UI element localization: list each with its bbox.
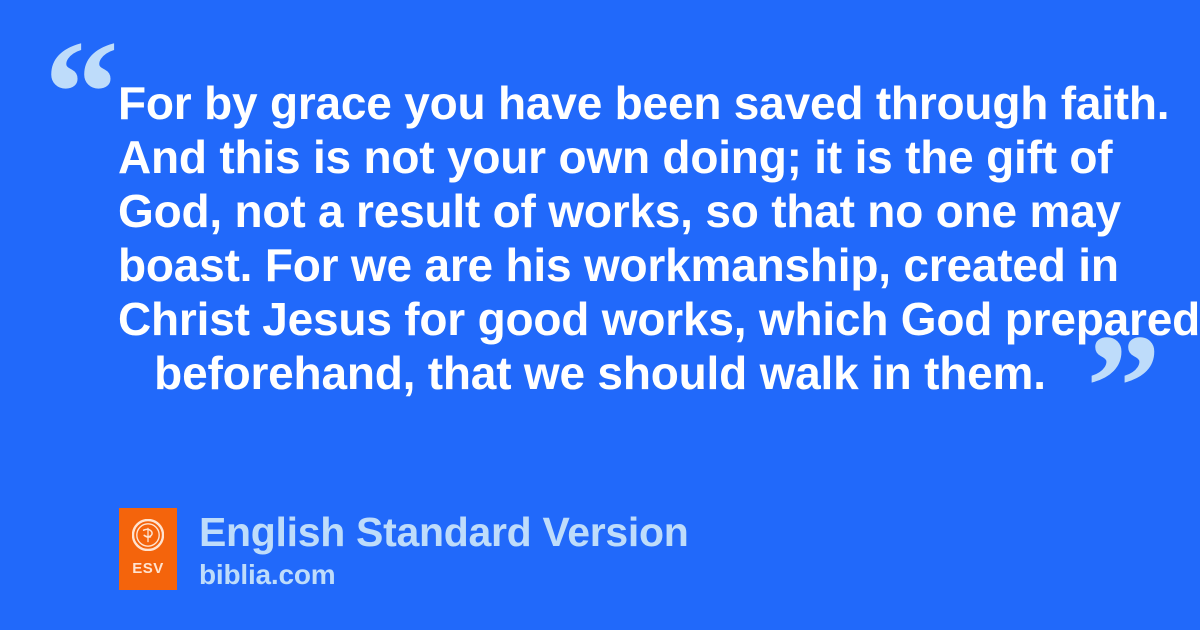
quote-card: “ For by grace you have been saved throu… [0, 0, 1200, 630]
esv-abbreviation: ESV [132, 561, 164, 576]
translation-name: English Standard Version [199, 509, 688, 555]
quote-line: boast. For we are his workmanship, creat… [118, 238, 1082, 292]
attribution-text: English Standard Version biblia.com [199, 508, 688, 591]
quote-line: God, not a result of works, so that no o… [118, 184, 1082, 238]
quote-text-block: For by grace you have been saved through… [0, 76, 1200, 400]
source-site: biblia.com [199, 559, 688, 591]
quote-line: And this is not your own doing; it is th… [118, 130, 1082, 184]
quote-line: For by grace you have been saved through… [118, 76, 1082, 130]
esv-logo-badge: ESV [119, 508, 177, 590]
quote-line: Christ Jesus for good works, which God p… [118, 292, 1082, 346]
quote-line: beforehand, that we should walk in them. [118, 346, 1082, 400]
closing-quote-icon: ” [1086, 312, 1159, 462]
esv-seal-icon [132, 519, 164, 551]
attribution-footer: ESV English Standard Version biblia.com [119, 508, 688, 591]
